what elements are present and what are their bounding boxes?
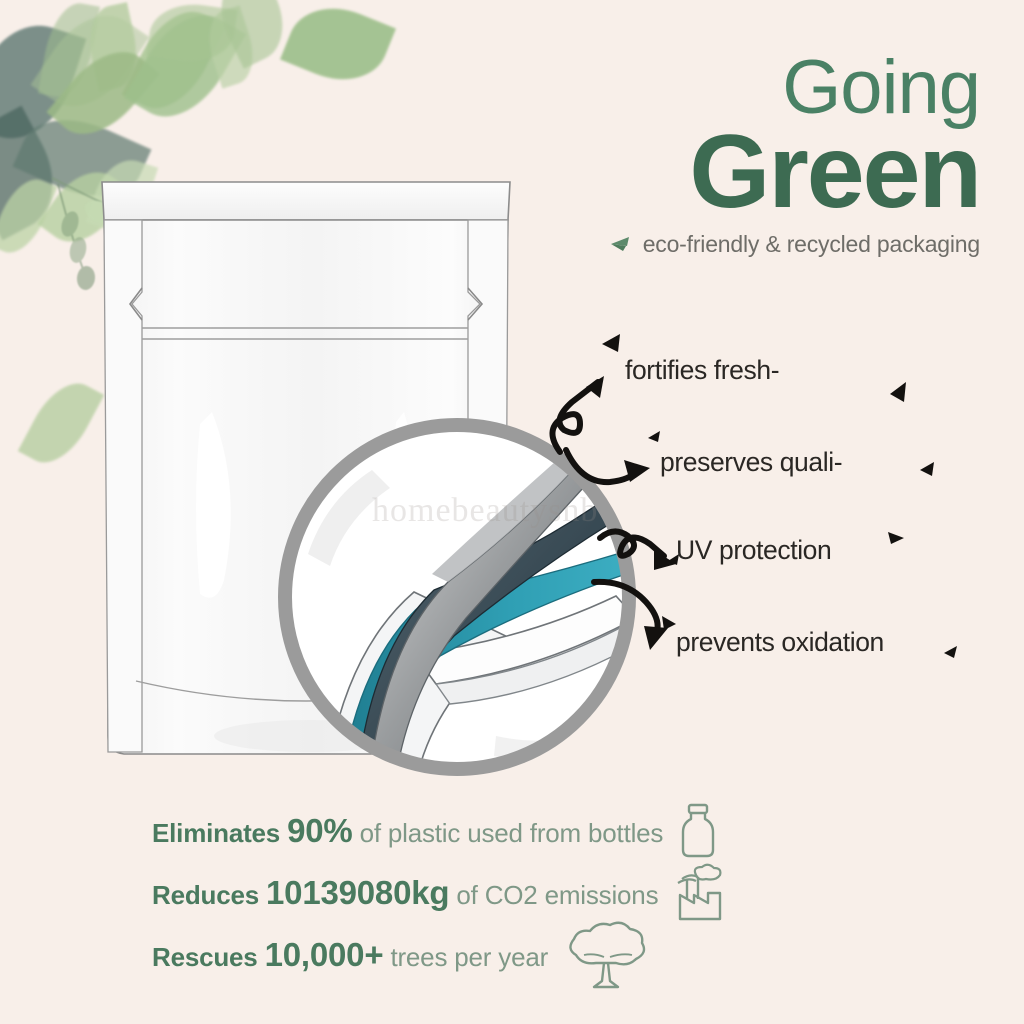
tree-icon <box>560 919 652 991</box>
stat-trail: of CO2 emissions <box>456 880 658 910</box>
stat-row: Rescues 10,000+ trees per year <box>0 924 1024 986</box>
going-green-infographic: homebeautysnb Going Green eco-friendly &… <box>0 0 1024 1024</box>
stat-trail: trees per year <box>390 942 548 972</box>
stat-value: 10,000+ <box>265 936 384 973</box>
triangle-doodle-icon <box>916 458 940 482</box>
stat-row: Reduces 10139080kg of CO2 emissions <box>0 862 1024 924</box>
stat-lead: Reduces <box>152 880 259 910</box>
stat-row: Eliminates 90% of plastic used from bott… <box>0 800 1024 862</box>
stat-text: Reduces 10139080kg of CO2 emissions <box>152 874 658 912</box>
leaf-icon <box>18 372 104 475</box>
factory-emissions-icon <box>670 863 726 923</box>
feature-label-prevents-oxidation: prevents oxidation <box>676 627 884 658</box>
leaf-arrow-icon <box>605 233 633 255</box>
stat-lead: Eliminates <box>152 818 280 848</box>
stat-value: 10139080kg <box>266 874 449 911</box>
feature-label-preserves-quality: preserves quali- <box>660 447 842 478</box>
stat-text: Eliminates 90% of plastic used from bott… <box>152 812 663 850</box>
title-line-green: Green <box>380 125 980 221</box>
leaf-icon <box>280 0 396 95</box>
triangle-doodle-icon <box>596 330 626 360</box>
curly-arrow-right-icon <box>562 440 658 502</box>
triangle-doodle-icon <box>940 642 962 664</box>
stat-lead: Rescues <box>152 942 258 972</box>
feature-label-fortifies-fresh: fortifies fresh- <box>625 355 779 386</box>
bottle-icon <box>675 802 721 860</box>
feature-label-uv-protection: UV protection <box>676 535 831 566</box>
stat-value: 90% <box>287 812 352 849</box>
page-subtitle: eco-friendly & recycled packaging <box>643 231 980 258</box>
triangle-doodle-icon <box>884 528 908 550</box>
triangle-doodle-icon <box>884 378 912 408</box>
page-title-block: Going Green eco-friendly & recycled pack… <box>380 52 980 258</box>
stat-text: Rescues 10,000+ trees per year <box>152 936 548 974</box>
stats-section: Eliminates 90% of plastic used from bott… <box>0 800 1024 986</box>
triangle-doodle-icon <box>644 428 664 448</box>
stat-trail: of plastic used from bottles <box>360 818 664 848</box>
